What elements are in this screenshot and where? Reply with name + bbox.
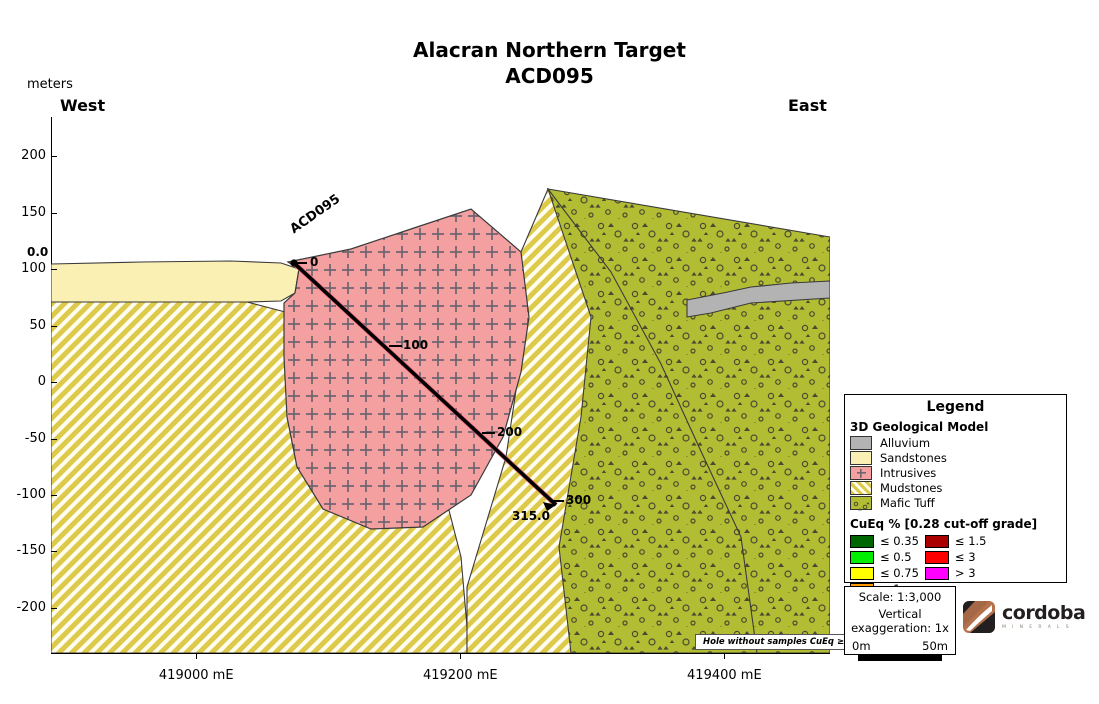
orientation-label-east: East: [788, 96, 827, 115]
x-tick-label-0: 419000 mE: [136, 668, 256, 683]
unit-sandstones: [51, 261, 299, 302]
logo-brand-name: cordoba: [1002, 604, 1085, 623]
y-axis-unit-label: meters: [27, 77, 73, 92]
depth-label-0: 0: [310, 255, 318, 269]
scale-bar-units: 0m 50m: [845, 635, 955, 653]
legend-label-cueq-4: ≤ 0.75: [880, 566, 919, 580]
y-tick-mark-8: [51, 608, 57, 609]
legend-label-cueq-1: ≤ 1.5: [955, 534, 987, 548]
swatch-cueq-0: [850, 535, 874, 548]
swatch-intrusives: [850, 466, 872, 480]
scale-ratio-text: Scale: 1:3,000: [845, 590, 955, 604]
legend-label-mudstones: Mudstones: [880, 481, 942, 495]
cordoba-minerals-logo: cordoba M I N E R A L S: [962, 596, 1067, 638]
legend-label-cueq-5: > 3: [955, 566, 987, 580]
legend-item-mudstones: Mudstones: [850, 481, 1066, 495]
legend-label-sandstones: Sandstones: [880, 451, 947, 465]
legend-panel: Legend 3D Geological Model Alluvium Sand…: [844, 394, 1067, 583]
scale-bar: [858, 654, 942, 661]
logo-mark-icon: [962, 600, 996, 634]
swatch-cueq-1: [925, 535, 949, 548]
legend-label-alluvium: Alluvium: [880, 436, 930, 450]
legend-geology-heading: 3D Geological Model: [850, 420, 1066, 434]
swatch-cueq-4: [850, 567, 874, 580]
y-tick-label-1: 150: [0, 205, 46, 220]
legend-label-cueq-2: ≤ 0.5: [880, 550, 919, 564]
x-tick-label-1: 419200 mE: [400, 668, 520, 683]
y-tick-label-3: 50: [0, 318, 46, 333]
depth-label-300: 300: [566, 493, 591, 507]
legend-label-cueq-3: ≤ 3: [955, 550, 987, 564]
swatch-cueq-2: [850, 551, 874, 564]
legend-item-sandstones: Sandstones: [850, 451, 1066, 465]
y-tick-mark-0: [51, 156, 57, 157]
scale-bar-end: 50m: [922, 639, 948, 653]
x-axis-line: [51, 653, 830, 654]
geology-svg: [51, 117, 830, 653]
depth-label-100: 100: [403, 338, 428, 352]
logo-wordmark: cordoba M I N E R A L S: [1002, 604, 1085, 630]
y-tick-mark-6: [51, 495, 57, 496]
legend-label-intrusives: Intrusives: [880, 466, 936, 480]
swatch-mafic-tuff: [850, 496, 872, 510]
swatch-alluvium: [850, 436, 872, 450]
y-tick-label-5: -50: [0, 431, 46, 446]
scale-bar-start: 0m: [852, 639, 871, 653]
y-tick-mark-2: [51, 269, 57, 270]
geology-cross-section-plot: 0.0 0 100 200 300 315.0: [51, 117, 830, 653]
legend-label-cueq-0: ≤ 0.35: [880, 534, 919, 548]
depth-label-200: 200: [497, 425, 522, 439]
y-tick-mark-5: [51, 439, 57, 440]
legend-item-mafic-tuff: Mafic Tuff: [850, 496, 1066, 510]
y-tick-label-8: -200: [0, 600, 46, 615]
y-tick-label-2: 100: [0, 261, 46, 276]
vertical-exaggeration-text: Vertical exaggeration: 1x: [845, 607, 955, 635]
y-tick-label-7: -150: [0, 543, 46, 558]
y-tick-label-4: 0: [0, 374, 46, 389]
page-title: Alacran Northern Target: [0, 38, 1099, 62]
swatch-cueq-3: [925, 551, 949, 564]
orientation-label-west: West: [60, 96, 105, 115]
y-tick-mark-7: [51, 551, 57, 552]
x-tick-mark-1: [460, 653, 461, 659]
legend-label-mafic-tuff: Mafic Tuff: [880, 496, 935, 510]
swatch-cueq-5: [925, 567, 949, 580]
legend-title: Legend: [845, 399, 1066, 415]
y-tick-mark-4: [51, 382, 57, 383]
x-tick-mark-0: [196, 653, 197, 659]
legend-item-intrusives: Intrusives: [850, 466, 1066, 480]
y-tick-mark-1: [51, 213, 57, 214]
legend-item-alluvium: Alluvium: [850, 436, 1066, 450]
legend-cueq-heading: CuEq % [0.28 cut-off grade]: [850, 517, 1066, 531]
x-tick-label-2: 419400 mE: [664, 668, 784, 683]
x-tick-mark-2: [724, 653, 725, 659]
scale-panel: Scale: 1:3,000 Vertical exaggeration: 1x…: [844, 586, 956, 655]
logo-brand-subtitle: M I N E R A L S: [1002, 625, 1085, 630]
cross-section-figure: Alacran Northern Target ACD095 meters We…: [0, 0, 1099, 704]
swatch-mudstones: [850, 481, 872, 495]
end-of-hole-label: 315.0: [512, 509, 550, 523]
y-tick-label-0: 200: [0, 148, 46, 163]
drillhole-collar-label: 0.0: [27, 245, 48, 259]
y-tick-mark-3: [51, 326, 57, 327]
swatch-mafic-tuff-pattern: [851, 500, 871, 512]
page-subtitle: ACD095: [0, 64, 1099, 88]
swatch-sandstones: [850, 451, 872, 465]
y-tick-label-6: -100: [0, 487, 46, 502]
